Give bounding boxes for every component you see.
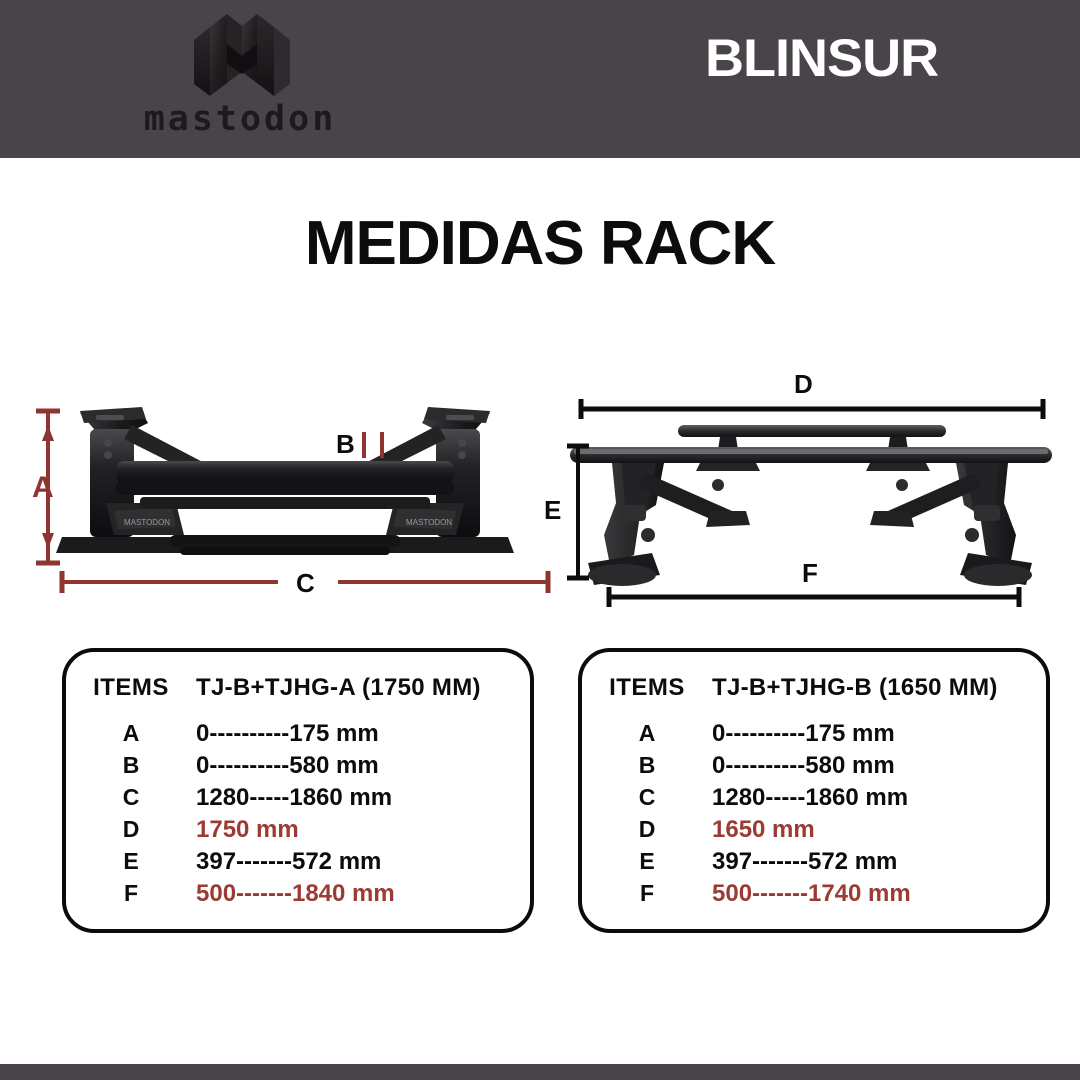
- row-key: E: [66, 848, 196, 875]
- row-value: 1280-----1860 mm: [712, 784, 1046, 812]
- table-row: E 397-------572 mm: [66, 848, 530, 880]
- table-row: B 0----------580 mm: [582, 752, 1046, 784]
- row-value: 397-------572 mm: [196, 848, 530, 876]
- row-key: F: [582, 880, 712, 907]
- column-header-model: TJ-B+TJHG-A (1750 MM): [196, 674, 530, 702]
- row-value: 1750 mm: [196, 816, 530, 844]
- svg-text:MASTODON: MASTODON: [124, 518, 170, 527]
- rack-front-view-diagram: D E F: [560, 385, 1060, 625]
- mastodon-wordmark: mastodon: [110, 102, 370, 137]
- column-header-model: TJ-B+TJHG-B (1650 MM): [712, 674, 1046, 702]
- spec-table-a: ITEMS TJ-B+TJHG-A (1750 MM) A 0---------…: [62, 648, 534, 933]
- table-row: A 0----------175 mm: [582, 720, 1046, 752]
- row-key: C: [66, 784, 196, 811]
- row-key: C: [582, 784, 712, 811]
- mastodon-logo: mastodon: [110, 14, 370, 142]
- row-value: 0----------580 mm: [196, 752, 530, 780]
- dimension-label-b: B: [336, 431, 355, 457]
- dimension-marker-f: [604, 585, 1024, 609]
- table-row: A 0----------175 mm: [66, 720, 530, 752]
- table-row: F 500-------1740 mm: [582, 880, 1046, 912]
- table-row: D 1650 mm: [582, 816, 1046, 848]
- footer-bar: [0, 1064, 1080, 1080]
- page-title: MEDIDAS RACK: [0, 213, 1080, 275]
- spec-table-a-header: ITEMS TJ-B+TJHG-A (1750 MM): [66, 674, 530, 702]
- dimension-label-a: A: [32, 473, 54, 503]
- blinsur-slash-accent-icon: [937, 34, 977, 78]
- dimension-label-f: F: [802, 560, 818, 586]
- row-value: 1280-----1860 mm: [196, 784, 530, 812]
- dimension-marker-d: [576, 397, 1048, 421]
- dimension-label-c: C: [296, 570, 315, 596]
- svg-text:MASTODON: MASTODON: [406, 518, 452, 527]
- mastodon-m-monogram-icon: [194, 14, 290, 96]
- dimension-label-d: D: [794, 371, 813, 397]
- dimension-label-e: E: [544, 497, 561, 523]
- table-row: C 1280-----1860 mm: [582, 784, 1046, 816]
- blinsur-wordmark: BLINSUR: [705, 32, 938, 85]
- row-key: F: [66, 880, 196, 907]
- column-header-items: ITEMS: [582, 674, 712, 702]
- row-key: A: [582, 720, 712, 747]
- dimension-marker-e: [564, 443, 592, 581]
- row-value: 0----------175 mm: [712, 720, 1046, 748]
- row-value: 0----------580 mm: [712, 752, 1046, 780]
- dimension-marker-b: [356, 430, 398, 460]
- table-row: F 500-------1840 mm: [66, 880, 530, 912]
- spec-table-a-rows: A 0----------175 mm B 0----------580 mm …: [66, 720, 530, 912]
- spec-table-b-rows: A 0----------175 mm B 0----------580 mm …: [582, 720, 1046, 912]
- spec-table-b: ITEMS TJ-B+TJHG-B (1650 MM) A 0---------…: [578, 648, 1050, 933]
- row-value: 500-------1740 mm: [712, 880, 1046, 908]
- row-key: D: [582, 816, 712, 843]
- row-value: 1650 mm: [712, 816, 1046, 844]
- row-key: D: [66, 816, 196, 843]
- row-value: 500-------1840 mm: [196, 880, 530, 908]
- row-key: E: [582, 848, 712, 875]
- rack-side-view-diagram: MASTODON MASTODON A B: [20, 385, 550, 625]
- table-row: E 397-------572 mm: [582, 848, 1046, 880]
- table-row: B 0----------580 mm: [66, 752, 530, 784]
- column-header-items: ITEMS: [66, 674, 196, 702]
- row-value: 397-------572 mm: [712, 848, 1046, 876]
- table-row: D 1750 mm: [66, 816, 530, 848]
- row-value: 0----------175 mm: [196, 720, 530, 748]
- row-key: B: [582, 752, 712, 779]
- row-key: A: [66, 720, 196, 747]
- blinsur-logo: BLINSUR: [705, 32, 975, 92]
- spec-table-b-header: ITEMS TJ-B+TJHG-B (1650 MM): [582, 674, 1046, 702]
- header-bar: mastodon BLINSUR: [0, 0, 1080, 158]
- row-key: B: [66, 752, 196, 779]
- table-row: C 1280-----1860 mm: [66, 784, 530, 816]
